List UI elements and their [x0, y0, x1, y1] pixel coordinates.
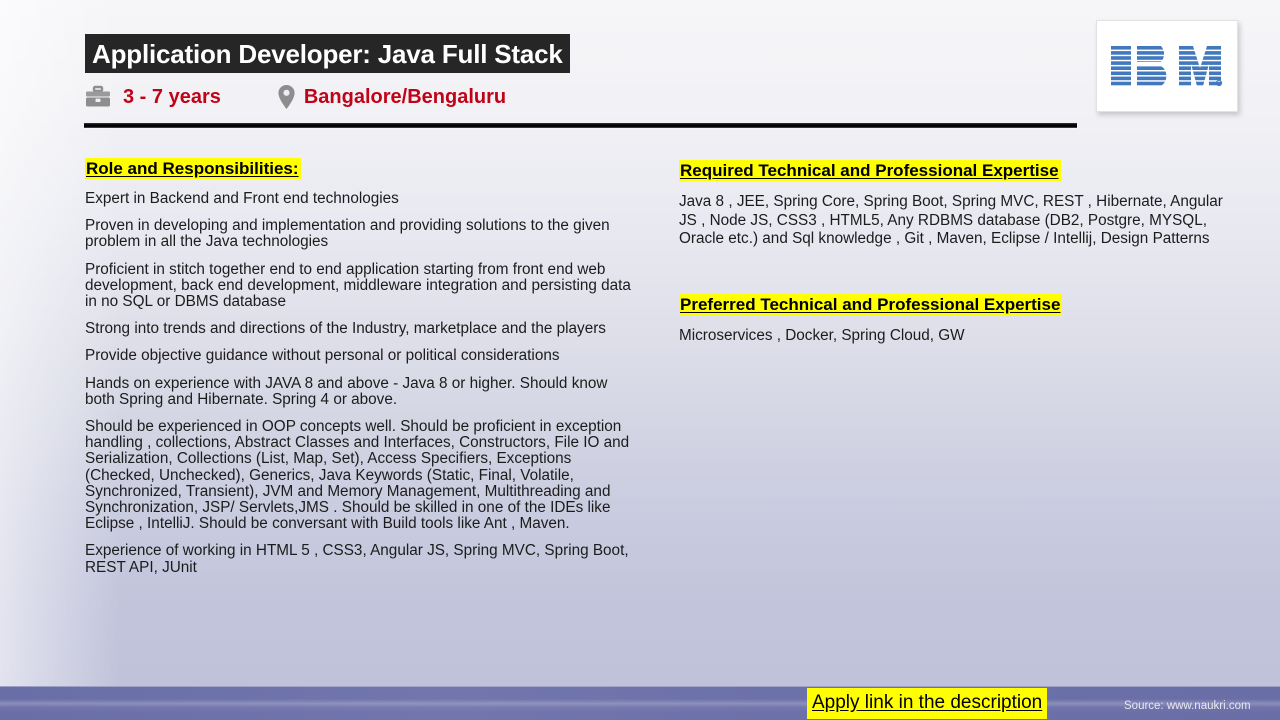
location-block: Bangalore/Bengaluru: [277, 84, 506, 110]
header-divider: [84, 123, 1077, 128]
source-attribution: Source: www.naukri.com: [1124, 700, 1251, 712]
responsibility-item: Experience of working in HTML 5 , CSS3, …: [85, 543, 640, 575]
left-heading-wrap: Role and Responsibilities:: [85, 158, 640, 181]
required-heading-wrap: Required Technical and Professional Expe…: [679, 160, 1239, 183]
preferred-expertise-heading: Preferred Technical and Professional Exp…: [679, 294, 1062, 315]
experience-block: 3 - 7 years: [85, 85, 221, 109]
job-title-bar: Application Developer: Java Full Stack: [85, 34, 570, 73]
ibm-logo-icon: R: [1111, 42, 1223, 90]
footer-band: [0, 686, 1280, 720]
responsibility-item: Expert in Backend and Front end technolo…: [85, 191, 640, 207]
column-spacer: [679, 260, 1239, 294]
company-logo: R: [1096, 20, 1238, 112]
apply-link[interactable]: Apply link in the description: [807, 688, 1047, 719]
responsibility-item: Should be experienced in OOP concepts we…: [85, 419, 640, 532]
preferred-heading-wrap: Preferred Technical and Professional Exp…: [679, 294, 1239, 317]
right-column: Required Technical and Professional Expe…: [679, 160, 1239, 357]
role-responsibilities-heading: Role and Responsibilities:: [85, 158, 301, 179]
responsibility-item: Hands on experience with JAVA 8 and abov…: [85, 376, 640, 408]
briefcase-icon: [85, 85, 111, 109]
responsibility-item: Provide objective guidance without perso…: [85, 348, 640, 364]
experience-value: 3 - 7 years: [123, 86, 221, 109]
required-expertise-body: Java 8 , JEE, Spring Core, Spring Boot, …: [679, 193, 1239, 249]
location-value: Bangalore/Bengaluru: [304, 86, 506, 109]
responsibility-item: Proficient in stitch together end to end…: [85, 262, 640, 311]
required-expertise-heading: Required Technical and Professional Expe…: [679, 160, 1061, 181]
map-pin-icon: [277, 84, 296, 110]
responsibility-item: Proven in developing and implementation …: [85, 218, 640, 250]
left-column: Role and Responsibilities: Expert in Bac…: [85, 158, 640, 587]
preferred-expertise-body: Microservices , Docker, Spring Cloud, GW: [679, 327, 1239, 346]
page-title: Application Developer: Java Full Stack: [92, 41, 563, 67]
slide-canvas: Application Developer: Java Full Stack 3…: [0, 0, 1280, 720]
responsibility-item: Strong into trends and directions of the…: [85, 321, 640, 337]
job-meta-row: 3 - 7 years Bangalore/Bengaluru: [85, 80, 506, 114]
